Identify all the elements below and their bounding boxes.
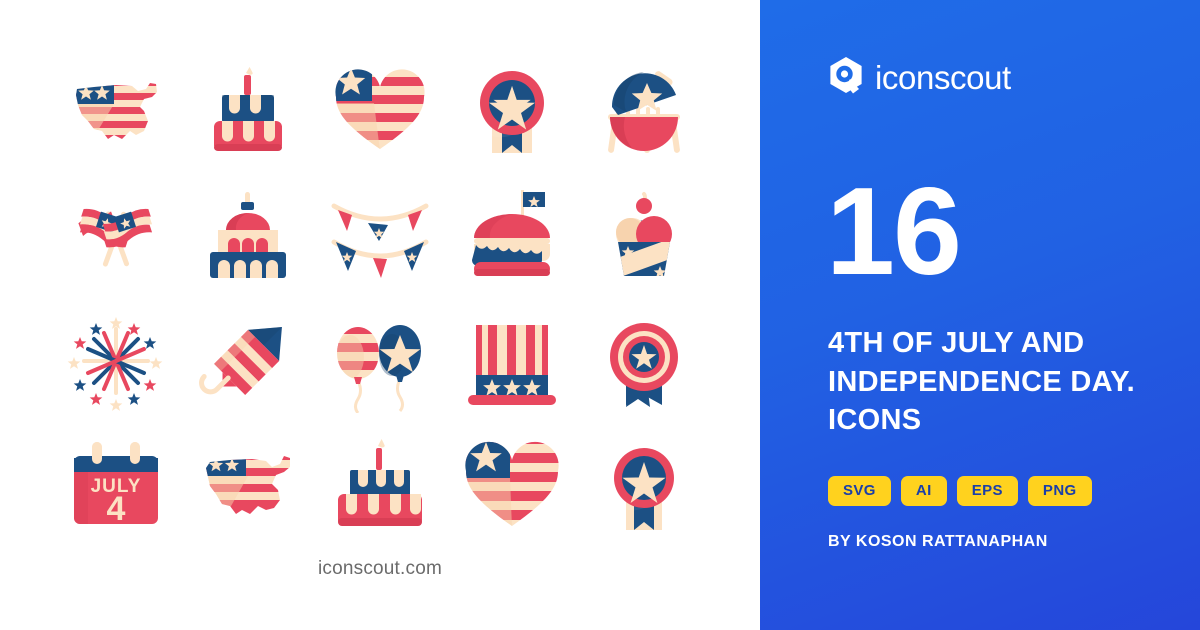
icon-cell-patriotic-balloons[interactable] xyxy=(314,298,446,423)
icon-count: 16 xyxy=(826,170,960,294)
pack-author: BY KOSON RATTANAPHAN xyxy=(828,533,1048,551)
format-badge-group: SVG AI EPS PNG xyxy=(828,476,1092,506)
flag-heart-icon xyxy=(328,59,432,163)
bunting-garland-icon xyxy=(328,184,432,288)
icon-cell-award-ribbon-star[interactable] xyxy=(578,423,710,548)
icon-cell-bunting-garland[interactable] xyxy=(314,173,446,298)
patriotic-balloons-icon xyxy=(328,309,432,413)
icon-cell-capitol-building[interactable] xyxy=(182,173,314,298)
layer-cake-candle-icon xyxy=(196,59,300,163)
icon-cell-usa-map-stars[interactable] xyxy=(182,423,314,548)
icon-cell-rosette-badge-star[interactable] xyxy=(578,298,710,423)
pack-info-panel: iconscout 16 4TH OF JULY AND INDEPENDENC… xyxy=(760,0,1200,630)
rosette-badge-star-icon xyxy=(592,309,696,413)
brand-wordmark: iconscout xyxy=(875,61,1011,94)
icon-grid: JULY 4 xyxy=(50,48,710,548)
icon-cell-flag-heart[interactable] xyxy=(314,48,446,173)
format-badge-eps[interactable]: EPS xyxy=(957,476,1018,506)
site-url-footer: iconscout.com xyxy=(0,558,760,580)
bbq-grill-icon xyxy=(592,59,696,163)
calendar-day-text: 4 xyxy=(107,490,126,528)
uncle-sam-hat-icon xyxy=(460,309,564,413)
format-badge-ai[interactable]: AI xyxy=(901,476,947,506)
icon-cell-fireworks-burst[interactable] xyxy=(50,298,182,423)
iconscout-hexagon-logo-icon xyxy=(828,56,864,99)
icon-cell-star-medal-ribbon[interactable] xyxy=(446,48,578,173)
capitol-building-icon xyxy=(196,184,300,288)
brand-logo[interactable]: iconscout xyxy=(828,56,1011,99)
icon-cell-uncle-sam-hat[interactable] xyxy=(446,298,578,423)
icon-preview-panel: JULY 4 xyxy=(0,0,760,630)
icon-cell-july-4-calendar[interactable]: JULY 4 xyxy=(50,423,182,548)
icon-cell-usa-map-flag[interactable] xyxy=(50,48,182,173)
firework-rocket-icon xyxy=(196,309,300,413)
cupcake-cherry-icon xyxy=(592,184,696,288)
icon-cell-crossed-flags[interactable] xyxy=(50,173,182,298)
icon-cell-firework-rocket[interactable] xyxy=(182,298,314,423)
icon-cell-flag-heart-star[interactable] xyxy=(446,423,578,548)
award-ribbon-star-icon xyxy=(592,434,696,538)
format-badge-svg[interactable]: SVG xyxy=(828,476,891,506)
birthday-cake-icon xyxy=(328,434,432,538)
usa-map-stars-icon xyxy=(196,434,300,538)
burger-flag-pick-icon xyxy=(460,184,564,288)
icon-cell-layer-cake-candle[interactable] xyxy=(182,48,314,173)
star-medal-ribbon-icon xyxy=(460,59,564,163)
july-4-calendar-icon: JULY 4 xyxy=(64,434,168,538)
pack-title: 4TH OF JULY AND INDEPENDENCE DAY. ICONS xyxy=(828,324,1178,440)
icon-cell-cupcake-cherry[interactable] xyxy=(578,173,710,298)
icon-cell-bbq-grill[interactable] xyxy=(578,48,710,173)
crossed-flags-icon xyxy=(64,184,168,288)
fireworks-burst-icon xyxy=(64,309,168,413)
flag-heart-star-icon xyxy=(460,434,564,538)
usa-map-flag-icon xyxy=(64,59,168,163)
icon-cell-burger-flag-pick[interactable] xyxy=(446,173,578,298)
icon-cell-birthday-cake[interactable] xyxy=(314,423,446,548)
format-badge-png[interactable]: PNG xyxy=(1028,476,1092,506)
